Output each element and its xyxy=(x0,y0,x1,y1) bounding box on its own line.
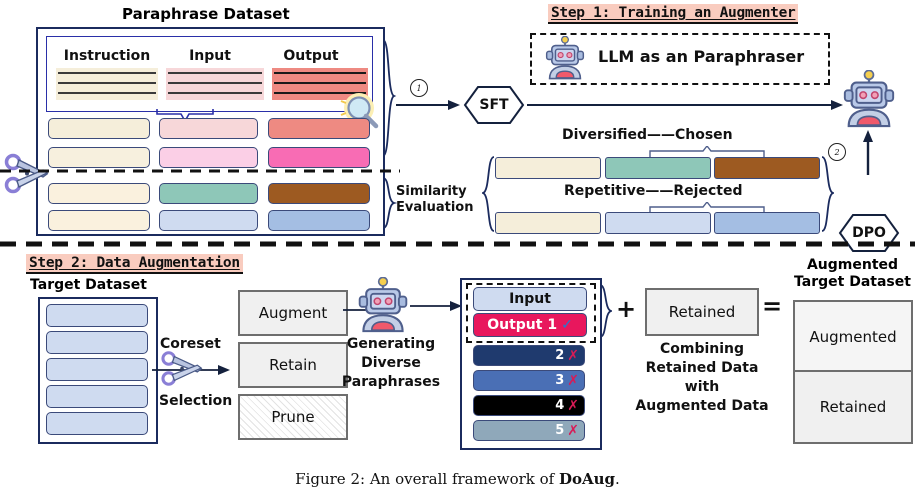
brace-pair-right xyxy=(820,155,834,235)
step1-header-label: Step 1: Training an Augmenter xyxy=(548,4,798,24)
generating-line2: Diverse xyxy=(336,354,446,373)
chosen-bar-input xyxy=(605,157,711,179)
rejected-bar-input xyxy=(605,212,711,234)
plus-sign: + xyxy=(616,295,636,323)
combining-line3: with xyxy=(628,378,776,397)
sft-node: SFT xyxy=(463,85,525,125)
combining-line1: Combining xyxy=(628,340,776,359)
output-row-4: 4 ✗ xyxy=(473,395,585,416)
selection-label: Selection xyxy=(159,393,232,409)
caption-end: . xyxy=(615,470,620,488)
x-icon: ✗ xyxy=(567,373,579,389)
brace-similarity-group xyxy=(381,176,397,232)
chosen-bar-instruction xyxy=(495,157,601,179)
step2-header-label: Step 2: Data Augmentation xyxy=(26,254,243,274)
table-row xyxy=(268,210,370,231)
retain-box[interactable]: Retain xyxy=(238,342,348,388)
figure-caption: Figure 2: An overall framework of DoAug. xyxy=(0,470,915,488)
similarity-line1: Similarity xyxy=(396,184,473,200)
arrow-to-sft xyxy=(396,98,462,112)
rejected-bar-instruction xyxy=(495,212,601,234)
table-row xyxy=(48,118,150,139)
output-row-chosen: Output 1 ✓ xyxy=(473,313,587,337)
table-row xyxy=(159,210,258,231)
combining-line4: Augmented Data xyxy=(628,397,776,416)
marker-1-badge: 1 xyxy=(410,79,428,97)
output-row-5: 5 ✗ xyxy=(473,420,585,441)
generating-line1: Generating xyxy=(336,335,446,354)
chosen-bar-output xyxy=(714,157,820,179)
rejected-bar-output xyxy=(714,212,820,234)
output-row-input: Input xyxy=(473,287,587,311)
retained-box: Retained xyxy=(645,288,759,336)
step2-header: Step 2: Data Augmentation xyxy=(26,252,243,274)
chosen-label: Diversified——Chosen xyxy=(562,127,733,143)
robot-icon-augmenter xyxy=(840,70,898,132)
list-item xyxy=(46,358,148,381)
rejected-label: Repetitive——Rejected xyxy=(564,183,742,199)
generating-line3: Paraphrases xyxy=(336,373,446,392)
output-4-label: 4 xyxy=(555,398,564,413)
table-row xyxy=(48,210,150,231)
list-item xyxy=(46,412,148,435)
output-5-label: 5 xyxy=(555,423,564,438)
brace-sft-group xyxy=(381,38,397,160)
caption-bold: DoAug xyxy=(559,470,615,488)
augment-box[interactable]: Augment xyxy=(238,290,348,336)
output-2-label: 2 xyxy=(555,348,564,363)
combining-label: Combining Retained Data with Augmented D… xyxy=(628,340,776,416)
table-row xyxy=(268,183,370,204)
robot-icon-generator xyxy=(355,277,411,337)
caption-prefix: Figure 2: xyxy=(295,470,365,488)
column-header-instruction: Instruction xyxy=(52,48,162,64)
scissors-icon-step2 xyxy=(160,348,206,394)
table-row xyxy=(48,183,150,204)
list-item xyxy=(46,331,148,354)
x-icon: ✗ xyxy=(567,348,579,364)
sample-instruction-swatch xyxy=(56,68,158,100)
similarity-evaluation-label: Similarity Evaluation xyxy=(396,184,473,216)
column-header-output: Output xyxy=(266,48,356,64)
check-icon: ✓ xyxy=(561,317,573,333)
table-row xyxy=(268,118,370,139)
combining-line2: Retained Data xyxy=(628,359,776,378)
output-3-label: 3 xyxy=(555,373,564,388)
arrow-sft-to-augmenter xyxy=(527,98,847,112)
result-augmented-box: Augmented xyxy=(793,300,913,374)
x-icon: ✗ xyxy=(567,423,579,439)
target-dataset-title: Target Dataset xyxy=(30,277,147,293)
prune-box[interactable]: Prune xyxy=(238,394,348,440)
robot-icon-llm xyxy=(543,36,587,84)
augmented-target-title: Augmented Target Dataset xyxy=(790,257,915,291)
llm-paraphraser-label: LLM as an Paraphraser xyxy=(598,47,804,66)
column-header-input: Input xyxy=(170,48,250,64)
caption-text: An overall framework of xyxy=(370,470,554,488)
arrow-robot-to-outputs xyxy=(410,300,462,312)
table-row xyxy=(159,183,258,204)
table-row xyxy=(268,147,370,168)
list-item xyxy=(46,304,148,327)
brace-augmented-pair xyxy=(598,283,612,341)
brace-pair-left xyxy=(482,155,496,235)
list-item xyxy=(46,385,148,408)
section-divider xyxy=(0,240,915,248)
similarity-line2: Evaluation xyxy=(396,200,473,216)
paraphrase-dataset-title: Paraphrase Dataset xyxy=(122,5,290,23)
table-row xyxy=(159,147,258,168)
marker-2-badge: 2 xyxy=(828,143,846,161)
result-title-line2: Target Dataset xyxy=(790,274,915,291)
equals-sign: = xyxy=(762,292,782,320)
table-row xyxy=(159,118,258,139)
output-chosen-label: Output 1 xyxy=(487,317,557,333)
output-row-3: 3 ✗ xyxy=(473,370,585,391)
result-title-line1: Augmented xyxy=(790,257,915,274)
sample-input-swatch xyxy=(166,68,264,100)
output-row-2: 2 ✗ xyxy=(473,345,585,366)
result-retained-box: Retained xyxy=(793,370,913,444)
table-row xyxy=(48,147,150,168)
generating-paraphrases-label: Generating Diverse Paraphrases xyxy=(336,335,446,392)
scissors-icon-step1 xyxy=(3,150,51,202)
sft-label: SFT xyxy=(463,85,525,125)
x-icon: ✗ xyxy=(567,398,579,414)
cut-dashed-line xyxy=(0,168,400,174)
arrow-dpo-to-augmenter xyxy=(861,130,875,175)
step1-header: Step 1: Training an Augmenter xyxy=(548,2,798,24)
